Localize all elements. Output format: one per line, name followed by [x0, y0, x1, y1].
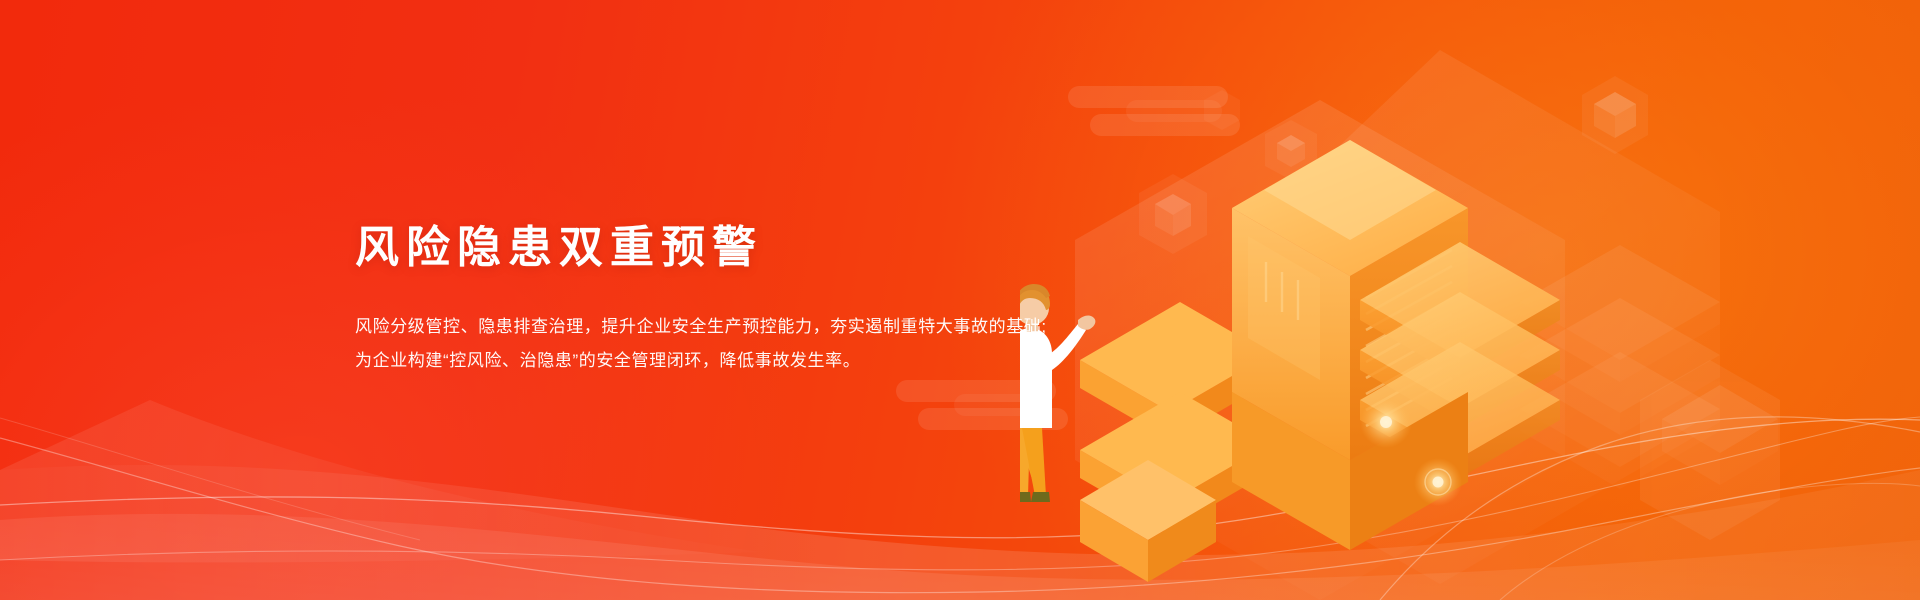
subtitle-line-1: 风险分级管控、隐患排查治理，提升企业安全生产预控能力，夯实遏制重特大事故的基础; — [355, 310, 1175, 344]
glow-spark — [1414, 458, 1462, 506]
floating-cube-small — [1080, 460, 1216, 582]
server-tower-main — [1232, 140, 1468, 460]
led-strip — [1266, 262, 1298, 320]
ghost-tower-far-right — [1640, 360, 1780, 540]
glow-spark-core — [1380, 416, 1392, 428]
hero-copy: 风险隐患双重预警 风险分级管控、隐患排查治理，提升企业安全生产预控能力，夯实遏制… — [355, 222, 1175, 378]
hero-subtitle: 风险分级管控、隐患排查治理，提升企业安全生产预控能力，夯实遏制重特大事故的基础;… — [355, 274, 1175, 378]
cloud-bar — [918, 408, 1068, 430]
tower-panel — [1248, 236, 1320, 380]
page-title: 风险隐患双重预警 — [355, 222, 1175, 274]
cloud-bar — [896, 380, 1056, 402]
ghost-hex-back-2 — [1270, 50, 1720, 584]
cloud-motif-top — [1068, 86, 1238, 148]
hero-banner: 风险隐患双重预警 风险分级管控、隐患排查治理，提升企业安全生产预控能力，夯实遏制… — [0, 0, 1920, 600]
figure-leg-left — [1020, 428, 1030, 496]
glow-spark-core — [1433, 477, 1444, 488]
cloud-bar — [1126, 100, 1222, 122]
glow-spark-ring — [1425, 469, 1451, 495]
hexagon-cube-icon — [1202, 88, 1242, 132]
wave-sheet-3 — [0, 400, 760, 562]
wave-line-1 — [0, 419, 1920, 538]
cloud-bar — [1090, 114, 1240, 136]
wave-sheet-2 — [0, 514, 1920, 600]
wave-line-2 — [0, 438, 1920, 593]
cloud-motif-bottom — [896, 380, 1066, 442]
hexagon-cube-icon — [1262, 118, 1320, 182]
cloud-bar — [954, 394, 1050, 416]
glow-spark — [1360, 396, 1412, 448]
figure-leg-right — [1022, 428, 1046, 496]
slab-stack-right — [1360, 242, 1560, 478]
front-lower-block — [1232, 324, 1468, 550]
cloud-bar — [1068, 86, 1228, 108]
wave-line-5 — [1500, 483, 1920, 600]
figure-shoe-right — [1031, 492, 1050, 502]
wave-line-4 — [1380, 417, 1920, 600]
subtitle-line-2: 为企业构建“控风险、治隐患”的安全管理闭环，降低事故发生率。 — [355, 344, 1175, 378]
ghost-stack-right — [1520, 245, 1720, 489]
wave-sheet-1 — [0, 465, 1920, 600]
wave-line-6 — [0, 418, 420, 540]
rack-slot-lines — [1366, 250, 1452, 426]
hexagon-cube-icon — [1578, 74, 1652, 156]
wave-line-3 — [0, 417, 1920, 570]
figure-shoe-left — [1020, 492, 1031, 502]
